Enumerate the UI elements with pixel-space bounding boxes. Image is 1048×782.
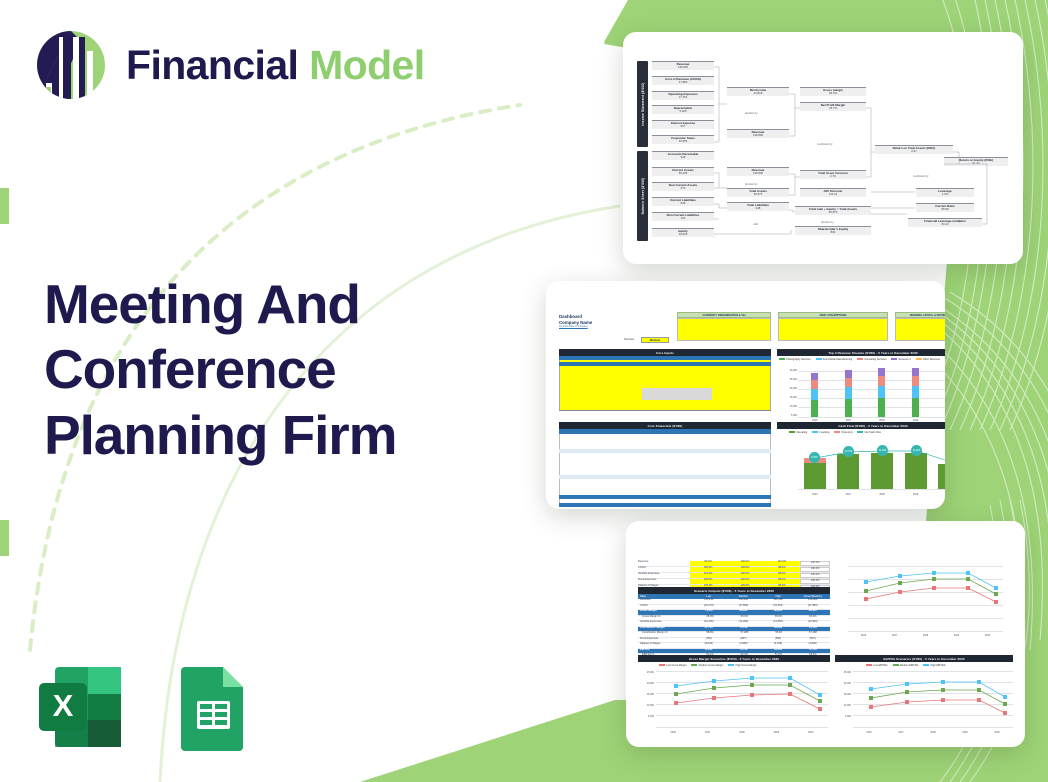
chart-ebitda-title: EBITDA Scenarios ($'000) - 5 Years to De… [835, 655, 1013, 662]
chart-cashflow-xticks: 2026 2027 2028 2029 2030 [798, 493, 945, 496]
pie-chart-logo-icon [33, 27, 109, 103]
dashboard-title-block: Dashboard Company Name As at the Date of… [559, 314, 669, 328]
bubble-cashflow-2: 11,200 [877, 445, 888, 456]
chart-top3-revenue-yticks: 30,000 25,000 20,000 15,000 10,000 5,000 [779, 369, 797, 423]
chart-ebitda-legend: Low EBITDA Medium EBITDA High EBITDA [866, 664, 945, 667]
brand-name: Financial Model [126, 45, 425, 86]
chart-gross-margin-title: Gross Margin Scenarios ($'000) - 5 Years… [638, 655, 830, 662]
left-accent-bar-bottom [0, 520, 9, 556]
chart-revenue-scenarios-xticks: 2026 2027 2028 2029 2030 [848, 634, 1003, 637]
core-financials-ebitda-row [559, 475, 771, 479]
panel-currency: CURRENCY DENOMINATION & Tax [677, 312, 771, 341]
chart-gross-margin-legend: Low Gross Margin Medium Gross Margin Hig… [659, 664, 756, 667]
brand-name-part1: Financial [126, 42, 309, 88]
chart-gross-margin-xticks: 2026 2027 2028 2029 2030 [656, 731, 828, 734]
core-financials-total-row [559, 503, 771, 507]
core-inputs-total-row [559, 410, 771, 416]
panel-working-capital: WORKING CAPITAL & DEPRECIATION [895, 312, 945, 341]
dupont-connectors [623, 32, 1023, 264]
chart-top3-revenue-legend: Photography Services Food Retail Manufac… [779, 358, 945, 361]
google-sheets-icon[interactable] [167, 661, 259, 753]
brand-name-part2: Model [309, 45, 424, 86]
chart-top3-revenue-title: Top 3 Revenue Streams ($'000) - 5 Years … [777, 349, 945, 356]
bubble-cashflow-0: 8,500 [809, 452, 820, 463]
dashboard-sheet: Dashboard Company Name As at the Date of… [546, 281, 945, 509]
bubble-cashflow-3: 11,200 [911, 445, 922, 456]
dupont-analysis-card[interactable]: Income Statement ($'000) Balance Sheet (… [623, 32, 1023, 264]
core-inputs-blank-cell [642, 388, 712, 400]
file-format-icons: X [34, 661, 259, 753]
scenario-analysis-card[interactable]: Revenue 80.0% 100.0% 110.0% 100.0% COGS … [626, 521, 1025, 747]
core-inputs-header: Core Inputs [559, 349, 771, 356]
microsoft-excel-icon[interactable]: X [34, 661, 126, 753]
scenario-outputs-table: Revenue 115,130 136,800 150,480 136,800 … [638, 599, 830, 660]
panel-debt: DEBT ASSUMPTIONS [778, 312, 888, 341]
dupont-sheet: Income Statement ($'000) Balance Sheet (… [623, 32, 1023, 264]
page-title: Meeting And Conference Planning Firm [44, 272, 514, 468]
svg-text:X: X [53, 688, 74, 723]
chart-cashflow-plot: 8,500 10,700 11,200 11,200 8,000 [798, 441, 945, 489]
core-inputs-subheader-2 [559, 362, 771, 366]
chart-cashflow-legend: Operating Investing Financing Net Cash F… [789, 431, 881, 434]
scenario-selector[interactable]: Medium [641, 337, 669, 343]
chart-top3-revenue-plot [798, 371, 945, 417]
dashboard-subtitle: As at the Date of Company [559, 325, 669, 328]
core-financials-colhead [559, 429, 771, 434]
left-accent-bar-top [0, 188, 9, 224]
chart-gross-margin-plot [656, 671, 828, 727]
financial-dashboard-card[interactable]: Dashboard Company Name As at the Date of… [546, 281, 945, 509]
bubble-cashflow-1: 10,700 [843, 446, 854, 457]
chart-ebitda-yticks: 25,000 20,000 15,000 10,000 5,000 [835, 671, 851, 726]
chart-ebitda-plot [853, 671, 1013, 727]
chart-revenue-scenarios-plot [848, 566, 1003, 631]
headline-line-3: Planning Firm [44, 403, 514, 468]
core-financials-header: Core Financials ($'000) [559, 422, 771, 429]
chart-gross-margin-yticks: 25,000 20,000 15,000 10,000 5,000 [638, 671, 654, 726]
slide-canvas: Financial Model Meeting And Conference P… [0, 0, 1048, 782]
chart-ebitda-xticks: 2026 2027 2028 2029 2030 [853, 731, 1013, 734]
scenario-outputs-header: Scenario Outputs ($'000) - 5 Years to De… [638, 587, 830, 594]
scenario-sheet: Revenue 80.0% 100.0% 110.0% 100.0% COGS … [626, 521, 1025, 747]
scenario-label: Scenario [624, 339, 634, 342]
chart-cashflow-title: Cash Flow ($'000) - 5 Years to December … [777, 422, 945, 429]
core-financials-netcash-row [559, 495, 771, 499]
brand-logo: Financial Model [33, 27, 425, 103]
core-financials-gross-margin-row [559, 449, 771, 453]
core-inputs-subheader [559, 356, 771, 360]
headline-line-1: Meeting And [44, 272, 514, 337]
headline-line-2: Conference [44, 337, 514, 402]
